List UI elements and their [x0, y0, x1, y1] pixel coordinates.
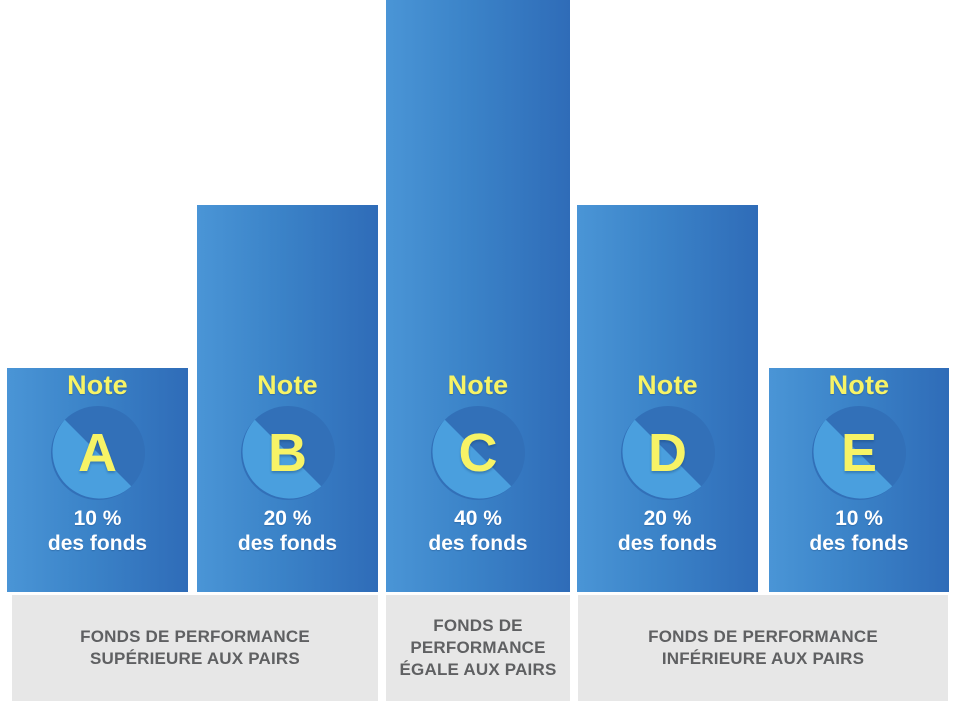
- bar-content-c: Note C 40 % des fonds: [386, 367, 570, 592]
- bar-content-b: Note B 20 % des fonds: [197, 367, 378, 592]
- category-legend: FONDS DE PERFORMANCE SUPÉRIEURE AUX PAIR…: [0, 595, 955, 701]
- percent-block-e: 10 % des fonds: [809, 507, 908, 557]
- pie-icon-b: B: [240, 405, 336, 501]
- bar-content-a: Note A 10 % des fonds: [7, 367, 188, 592]
- percent-sublabel-c: des fonds: [428, 532, 527, 557]
- percent-sublabel-a: des fonds: [48, 532, 147, 557]
- pie-icon-a: A: [50, 405, 146, 501]
- grade-letter-e: E: [811, 405, 907, 501]
- percent-block-a: 10 % des fonds: [48, 507, 147, 557]
- percent-block-b: 20 % des fonds: [238, 507, 337, 557]
- percent-sublabel-d: des fonds: [618, 532, 717, 557]
- bar-grade-a[interactable]: Note A 10 % des fonds: [7, 368, 188, 592]
- note-label-a: Note: [67, 372, 128, 399]
- bars-container: Note A 10 % des fonds Note: [0, 0, 955, 592]
- category-label-inferieure: FONDS DE PERFORMANCE INFÉRIEURE AUX PAIR…: [648, 626, 878, 670]
- pie-icon-d: D: [620, 405, 716, 501]
- note-label-e: Note: [829, 372, 890, 399]
- grade-letter-d: D: [620, 405, 716, 501]
- category-panel-egale: FONDS DE PERFORMANCE ÉGALE AUX PAIRS: [386, 595, 570, 701]
- pie-icon-e: E: [811, 405, 907, 501]
- note-label-b: Note: [257, 372, 318, 399]
- percent-sublabel-e: des fonds: [809, 532, 908, 557]
- bar-grade-d[interactable]: Note D 20 % des fonds: [577, 205, 758, 592]
- percent-block-d: 20 % des fonds: [618, 507, 717, 557]
- percent-value-d: 20 %: [618, 507, 717, 532]
- performance-grade-bar-chart: Note A 10 % des fonds Note: [0, 0, 955, 710]
- category-label-egale: FONDS DE PERFORMANCE ÉGALE AUX PAIRS: [400, 615, 557, 680]
- grade-letter-c: C: [430, 405, 526, 501]
- percent-value-b: 20 %: [238, 507, 337, 532]
- bar-content-e: Note E 10 % des fonds: [769, 367, 949, 592]
- percent-value-c: 40 %: [428, 507, 527, 532]
- percent-value-e: 10 %: [809, 507, 908, 532]
- grade-letter-a: A: [50, 405, 146, 501]
- bar-content-d: Note D 20 % des fonds: [577, 367, 758, 592]
- grade-letter-b: B: [240, 405, 336, 501]
- percent-block-c: 40 % des fonds: [428, 507, 527, 557]
- percent-value-a: 10 %: [48, 507, 147, 532]
- bar-grade-b[interactable]: Note B 20 % des fonds: [197, 205, 378, 592]
- bar-grade-e[interactable]: Note E 10 % des fonds: [769, 368, 949, 592]
- pie-icon-c: C: [430, 405, 526, 501]
- percent-sublabel-b: des fonds: [238, 532, 337, 557]
- category-panel-inferieure: FONDS DE PERFORMANCE INFÉRIEURE AUX PAIR…: [578, 595, 948, 701]
- note-label-d: Note: [637, 372, 698, 399]
- category-label-superieure: FONDS DE PERFORMANCE SUPÉRIEURE AUX PAIR…: [80, 626, 310, 670]
- bar-grade-c[interactable]: Note C 40 % des fonds: [386, 0, 570, 592]
- note-label-c: Note: [448, 372, 509, 399]
- category-panel-superieure: FONDS DE PERFORMANCE SUPÉRIEURE AUX PAIR…: [12, 595, 378, 701]
